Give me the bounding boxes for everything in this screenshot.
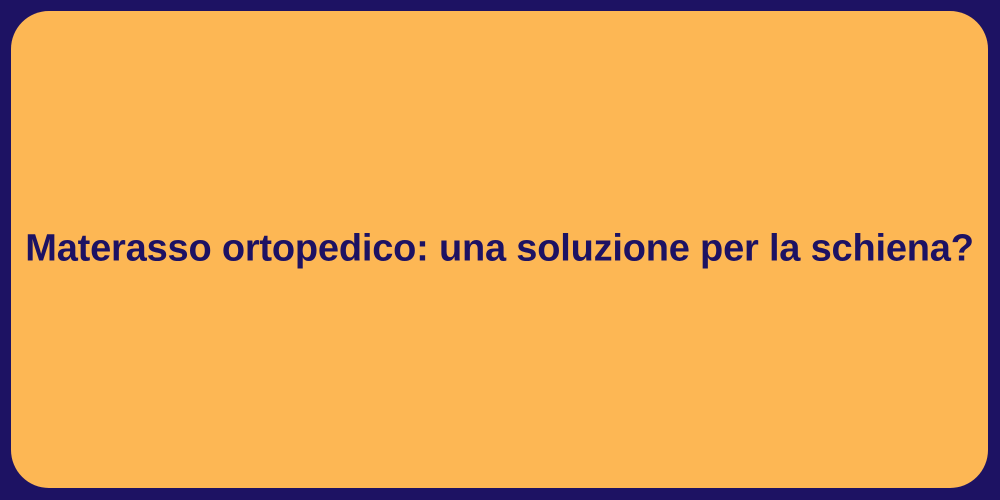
banner-panel: Materasso ortopedico: una soluzione per … (11, 11, 988, 488)
page-title: Materasso ortopedico: una soluzione per … (0, 225, 1000, 273)
banner-border-frame: Materasso ortopedico: una soluzione per … (0, 0, 1000, 500)
